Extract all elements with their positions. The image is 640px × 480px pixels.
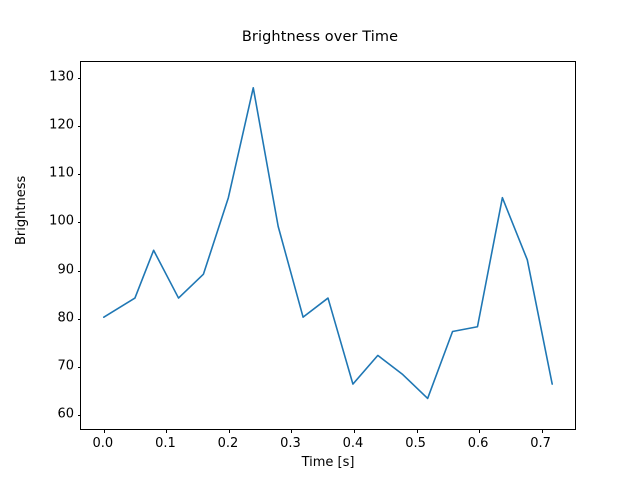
x-tick-mark [229, 429, 230, 433]
x-tick-label: 0.1 [135, 436, 195, 451]
data-line-svg [81, 62, 575, 429]
x-tick-label: 0.0 [73, 436, 133, 451]
x-tick-mark [291, 429, 292, 433]
y-tick-mark [78, 174, 82, 175]
y-tick-label: 80 [30, 310, 74, 325]
y-tick-label: 130 [30, 70, 74, 85]
chart-title: Brightness over Time [0, 29, 640, 45]
x-tick-label: 0.3 [260, 436, 320, 451]
y-tick-label: 70 [30, 358, 74, 373]
y-tick-mark [78, 222, 82, 223]
x-tick-label-group: 0.00.10.20.30.40.50.60.7 [80, 436, 576, 456]
x-axis-label: Time [s] [80, 455, 576, 470]
x-tick-mark [104, 429, 105, 433]
y-tick-mark [78, 126, 82, 127]
y-tick-mark [78, 415, 82, 416]
x-tick-mark [417, 429, 418, 433]
y-tick-mark [78, 78, 82, 79]
y-tick-label-group: 60708090100110120130 [30, 61, 74, 430]
x-tick-label: 0.6 [448, 436, 508, 451]
x-tick-label: 0.4 [323, 436, 383, 451]
x-tick-mark [166, 429, 167, 433]
x-tick-mark [354, 429, 355, 433]
y-tick-label: 60 [30, 406, 74, 421]
y-tick-label: 110 [30, 166, 74, 181]
y-tick-label: 120 [30, 118, 74, 133]
x-tick-mark [479, 429, 480, 433]
y-axis-label: Brightness [14, 176, 29, 245]
brightness-line-series [104, 88, 552, 399]
matplotlib-figure: Brightness over Time Brightness 60708090… [0, 0, 640, 480]
y-tick-mark [78, 367, 82, 368]
x-tick-label: 0.5 [386, 436, 446, 451]
y-tick-mark [78, 319, 82, 320]
x-tick-mark [542, 429, 543, 433]
x-tick-label: 0.7 [511, 436, 571, 451]
y-tick-mark [78, 271, 82, 272]
y-tick-label: 100 [30, 214, 74, 229]
x-tick-label: 0.2 [198, 436, 258, 451]
plot-area [80, 61, 576, 430]
y-tick-label: 90 [30, 262, 74, 277]
